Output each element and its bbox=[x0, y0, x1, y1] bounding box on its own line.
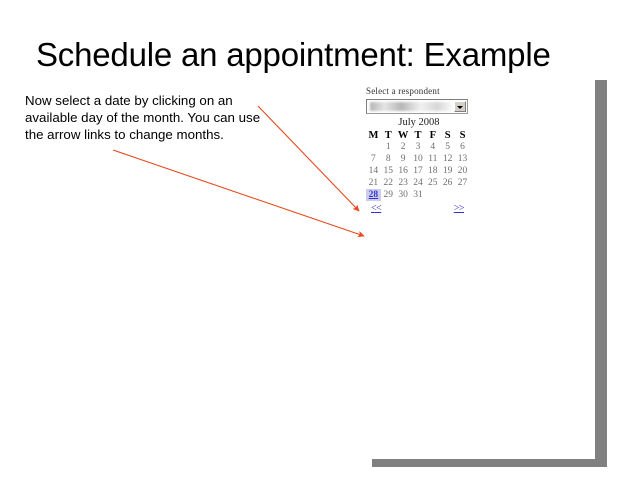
calendar-day-cell bbox=[455, 189, 470, 201]
calendar-weekday-header-row: M T W T F S S bbox=[366, 129, 470, 141]
weekday-header-thu: T bbox=[411, 129, 426, 141]
instruction-text: Now select a date by clicking on an avai… bbox=[25, 92, 270, 143]
calendar-next-month-link[interactable]: >> bbox=[454, 203, 464, 214]
calendar-day-cell[interactable]: 18 bbox=[425, 165, 440, 177]
calendar-day-cell[interactable]: 20 bbox=[455, 165, 470, 177]
calendar-day-cell[interactable]: 29 bbox=[381, 189, 396, 201]
calendar-day-cell[interactable]: 25 bbox=[425, 177, 440, 189]
weekday-header-tue: T bbox=[381, 129, 396, 141]
chevron-down-icon[interactable] bbox=[454, 101, 466, 112]
calendar-day-cell[interactable]: 1 bbox=[381, 141, 396, 153]
calendar-day-cell[interactable]: 16 bbox=[396, 165, 411, 177]
respondent-select-label: Select a respondent bbox=[366, 86, 472, 96]
calendar-day-cell[interactable]: 31 bbox=[411, 189, 426, 201]
respondent-select[interactable] bbox=[366, 99, 468, 114]
calendar-day-cell bbox=[366, 141, 381, 153]
weekday-header-wed: W bbox=[396, 129, 411, 141]
calendar-day-cell[interactable]: 14 bbox=[366, 165, 381, 177]
calendar-day-cell[interactable]: 3 bbox=[411, 141, 426, 153]
calendar-week-row: 28 29 30 31 bbox=[366, 189, 470, 201]
calendar-day-cell bbox=[440, 189, 455, 201]
calendar-day-cell[interactable]: 9 bbox=[396, 153, 411, 165]
calendar-day-cell bbox=[425, 189, 440, 201]
calendar-day-cell[interactable]: 8 bbox=[381, 153, 396, 165]
calendar-day-cell[interactable]: 7 bbox=[366, 153, 381, 165]
calendar-day-cell[interactable]: 17 bbox=[411, 165, 426, 177]
slide-frame-shadow-bottom bbox=[372, 459, 602, 467]
calendar-day-cell[interactable]: 22 bbox=[381, 177, 396, 189]
calendar-day-cell[interactable]: 30 bbox=[396, 189, 411, 201]
calendar-day-cell[interactable]: 10 bbox=[411, 153, 426, 165]
calendar-nav: << >> bbox=[366, 203, 470, 216]
calendar-week-row: 21 22 23 24 25 26 27 bbox=[366, 177, 470, 189]
calendar-day-cell[interactable]: 11 bbox=[425, 153, 440, 165]
calendar-day-cell[interactable]: 24 bbox=[411, 177, 426, 189]
calendar-week-row: 7 8 9 10 11 12 13 bbox=[366, 153, 470, 165]
calendar-day-cell[interactable]: 27 bbox=[455, 177, 470, 189]
arrow-to-day-cell bbox=[258, 106, 359, 211]
respondent-select-value bbox=[370, 102, 452, 111]
calendar-day-cell[interactable]: 5 bbox=[440, 141, 455, 153]
calendar-prev-month-link[interactable]: << bbox=[371, 203, 381, 214]
calendar-day-cell[interactable]: 2 bbox=[396, 141, 411, 153]
appointment-calendar-widget: Select a respondent July 2008 M T W T F … bbox=[366, 86, 472, 216]
calendar-day-cell[interactable]: 6 bbox=[455, 141, 470, 153]
calendar-day-cell[interactable]: 19 bbox=[440, 165, 455, 177]
calendar-day-cell[interactable]: 4 bbox=[425, 141, 440, 153]
slide-frame-shadow-right bbox=[595, 80, 607, 467]
weekday-header-sat: S bbox=[440, 129, 455, 141]
arrow-to-month-nav-links bbox=[113, 150, 364, 236]
page-title: Schedule an appointment: Example bbox=[36, 36, 616, 74]
calendar-day-cell[interactable]: 21 bbox=[366, 177, 381, 189]
calendar-day-cell[interactable]: 26 bbox=[440, 177, 455, 189]
calendar-day-cell-selected[interactable]: 28 bbox=[366, 189, 381, 201]
calendar-day-cell[interactable]: 15 bbox=[381, 165, 396, 177]
weekday-header-fri: F bbox=[425, 129, 440, 141]
calendar-week-row: 1 2 3 4 5 6 bbox=[366, 141, 470, 153]
calendar-day-cell[interactable]: 12 bbox=[440, 153, 455, 165]
calendar-grid: M T W T F S S 1 2 3 4 5 6 7 8 9 bbox=[366, 129, 470, 201]
weekday-header-mon: M bbox=[366, 129, 381, 141]
calendar-week-row: 14 15 16 17 18 19 20 bbox=[366, 165, 470, 177]
calendar-month-caption: July 2008 bbox=[366, 117, 472, 128]
weekday-header-sun: S bbox=[455, 129, 470, 141]
calendar-day-cell[interactable]: 23 bbox=[396, 177, 411, 189]
calendar-day-cell[interactable]: 13 bbox=[455, 153, 470, 165]
